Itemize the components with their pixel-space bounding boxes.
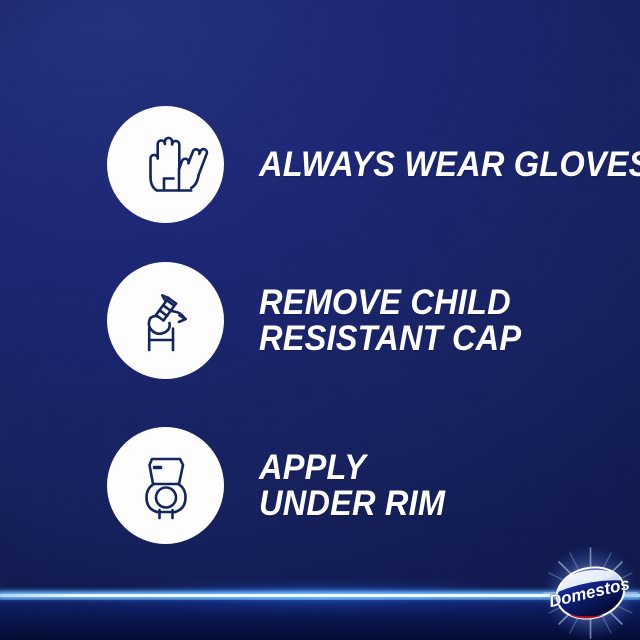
instruction-step: APPLY UNDER RIM <box>0 427 640 547</box>
child-resistant-cap-icon <box>123 278 209 364</box>
domestos-logo: Domestos <box>541 546 640 640</box>
step-label-line: UNDER RIM <box>259 486 445 522</box>
step-label-line: REMOVE CHILD <box>259 285 521 321</box>
step-icon-badge <box>107 427 224 544</box>
instruction-step: REMOVE CHILD RESISTANT CAP <box>0 262 640 382</box>
step-icon-badge <box>107 106 224 223</box>
instruction-poster: ALWAYS WEAR GLOVES <box>0 0 640 640</box>
instruction-step-list: ALWAYS WEAR GLOVES <box>0 0 640 570</box>
step-label: APPLY UNDER RIM <box>259 427 445 544</box>
step-icon-badge <box>107 262 224 379</box>
gloves-icon <box>123 122 209 208</box>
step-label: REMOVE CHILD RESISTANT CAP <box>259 262 521 379</box>
instruction-step: ALWAYS WEAR GLOVES <box>0 106 640 226</box>
step-label: ALWAYS WEAR GLOVES <box>259 106 640 223</box>
step-label-line: RESISTANT CAP <box>259 321 521 357</box>
toilet-icon <box>126 446 206 526</box>
step-label-line: APPLY <box>259 450 445 486</box>
step-label-line: ALWAYS WEAR GLOVES <box>259 147 640 183</box>
